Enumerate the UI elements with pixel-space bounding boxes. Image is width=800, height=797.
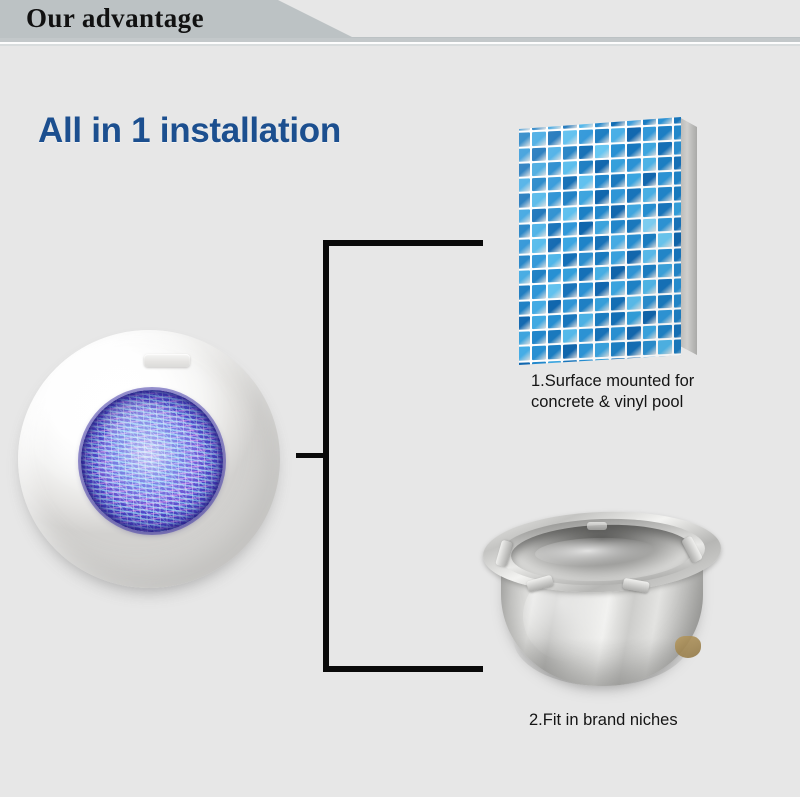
mosaic-tile [643,234,657,248]
mosaic-tile [548,162,562,176]
mosaic-tile [611,266,625,280]
mosaic-tile [674,141,681,155]
mosaic-tile [519,163,530,177]
mosaic-tile [579,145,593,159]
light-led-lens [81,390,223,532]
mosaic-tile [563,314,577,328]
mosaic-tile [579,359,593,365]
mosaic-tile [532,239,546,253]
mosaic-tile [532,193,546,207]
mosaic-tile [532,178,546,192]
lens-edge-shadow [81,390,223,532]
mosaic-tile [674,278,681,292]
mosaic-panel-side-edge [679,117,697,355]
mosaic-tile [595,221,609,235]
mosaic-tile [548,177,562,191]
mosaic-tile [579,191,593,205]
mosaic-tile [611,144,625,158]
mosaic-tile [519,178,530,192]
mosaic-tile [563,283,577,297]
mosaic-tile [548,223,562,237]
mosaic-tile [548,146,562,160]
mosaic-tile [674,125,681,139]
mosaic-tile [658,117,672,125]
mosaic-tile [627,235,641,249]
mosaic-tile [658,172,672,186]
mosaic-tile [532,361,546,365]
mosaic-tile [548,192,562,206]
mosaic-tile [595,251,609,265]
mosaic-tile [563,207,577,221]
mosaic-tile [579,221,593,235]
mosaic-tile [548,208,562,222]
mosaic-tile [579,130,593,144]
mosaic-tile [595,144,609,158]
mosaic-tile [579,267,593,281]
mosaic-tile [532,254,546,268]
mosaic-tile [627,143,641,157]
mosaic-tile [643,219,657,233]
mosaic-tile [658,218,672,232]
mosaic-tile [627,117,641,126]
mosaic-tile [611,281,625,295]
mosaic-tile [627,357,641,365]
mosaic-tile [563,130,577,144]
page-root: Our advantage All in 1 installation 1.Su… [0,0,800,797]
mosaic-tile [595,236,609,250]
mosaic-tile [658,157,672,171]
mosaic-tile [579,344,593,358]
mosaic-tile [611,342,625,356]
mosaic-tile [563,237,577,251]
niche-clip [587,522,607,530]
mosaic-tile [611,312,625,326]
light-top-tab [144,354,190,367]
mosaic-tile [658,279,672,293]
mosaic-tile [627,311,641,325]
mosaic-tile [532,224,546,238]
mosaic-tile [579,117,593,128]
mosaic-panel-face [519,117,681,365]
mosaic-tile [627,280,641,294]
mosaic-tile [611,296,625,310]
bracket-connector [296,240,488,674]
mosaic-tile [579,160,593,174]
mosaic-tile [611,117,625,127]
mosaic-tile [595,267,609,281]
mosaic-tile [643,188,657,202]
mosaic-tile [548,253,562,267]
mosaic-tile [658,141,672,155]
mosaic-tile [548,299,562,313]
mosaic-tile [563,360,577,365]
mosaic-tile [519,117,530,131]
mosaic-tile [532,208,546,222]
page-headline: All in 1 installation [38,111,341,151]
mosaic-tile [658,248,672,262]
mosaic-tile [643,264,657,278]
mosaic-tile [563,161,577,175]
mosaic-tile [658,264,672,278]
mosaic-tile [674,232,681,246]
steel-niche-image [483,508,721,690]
mosaic-tile [532,162,546,176]
mosaic-tile [548,284,562,298]
mosaic-tile [674,309,681,323]
mosaic-tile [643,341,657,355]
mosaic-tile [611,128,625,142]
mosaic-tile [532,300,546,314]
mosaic-tile [532,315,546,329]
mosaic-tile [595,175,609,189]
mosaic-tile [519,133,530,147]
mosaic-tile [579,176,593,190]
mosaic-tile [627,128,641,142]
mosaic-tile [611,220,625,234]
mosaic-tile [519,255,530,269]
mosaic-tile [643,127,657,141]
mosaic-tile [627,158,641,172]
mosaic-tile [548,117,562,130]
mosaic-tile [643,249,657,263]
bracket-arm-top [323,240,483,246]
mosaic-tile [579,206,593,220]
mosaic-tile [643,326,657,340]
mosaic-tile [595,205,609,219]
mosaic-tile [674,294,681,308]
mosaic-tile [627,296,641,310]
mosaic-tile [532,269,546,283]
mosaic-tile [674,263,681,277]
mosaic-tile [674,340,681,354]
mosaic-tile [627,250,641,264]
caption-item-2: 2.Fit in brand niches [529,710,739,731]
mosaic-tile [643,280,657,294]
mosaic-tile [627,326,641,340]
mosaic-tile [579,252,593,266]
mosaic-tile [519,209,530,223]
mosaic-tile [519,194,530,208]
mosaic-tile [658,126,672,140]
mosaic-tile [658,203,672,217]
mosaic-tile [611,327,625,341]
mosaic-tile [519,362,530,365]
mosaic-tile [595,328,609,342]
mosaic-tile [563,146,577,160]
mosaic-tile [548,330,562,344]
mosaic-tile [579,283,593,297]
bracket-vertical-line [323,240,329,672]
mosaic-tile [548,238,562,252]
mosaic-tile [658,310,672,324]
mosaic-tile [563,192,577,206]
mosaic-tile [611,189,625,203]
mosaic-tile [579,313,593,327]
mosaic-tile [519,331,530,345]
banner-divider-line-3 [0,44,800,46]
mosaic-tile [643,310,657,324]
mosaic-tile [674,156,681,170]
mosaic-tile [563,345,577,359]
mosaic-tile [643,157,657,171]
mosaic-tile [563,299,577,313]
mosaic-tile [611,235,625,249]
mosaic-tile [674,117,681,124]
mosaic-tile-grid [519,117,681,365]
mosaic-tile [519,148,530,162]
mosaic-tile [595,129,609,143]
niche-body-shadow [513,638,691,686]
mosaic-tile [627,219,641,233]
mosaic-tile [658,294,672,308]
mosaic-tile [579,298,593,312]
mosaic-tile [611,205,625,219]
mosaic-tile [595,343,609,357]
niche-conduit-lug [675,636,701,658]
mosaic-tile [674,248,681,262]
mosaic-tile [519,316,530,330]
mosaic-tile [519,240,530,254]
mosaic-tile [532,132,546,146]
mosaic-tile [611,159,625,173]
mosaic-tile [532,346,546,360]
mosaic-tile [595,358,609,365]
mosaic-tile [595,282,609,296]
mosaic-tile [548,131,562,145]
mosaic-tile [532,331,546,345]
mosaic-tile [595,297,609,311]
mosaic-tile [658,340,672,354]
mosaic-tile [627,342,641,356]
mosaic-tile-panel-image [519,117,695,369]
mosaic-tile [563,117,577,129]
mosaic-tile [548,345,562,359]
mosaic-tile [643,203,657,217]
mosaic-tile [595,190,609,204]
mosaic-tile [532,117,546,130]
mosaic-tile [519,347,530,361]
mosaic-tile [563,176,577,190]
mosaic-tile [658,187,672,201]
mosaic-tile [548,269,562,283]
mosaic-tile [519,224,530,238]
mosaic-tile [519,301,530,315]
mosaic-tile [674,187,681,201]
section-title: Our advantage [26,3,204,34]
pool-light-image [18,330,280,592]
mosaic-tile [643,295,657,309]
mosaic-tile [627,204,641,218]
mosaic-tile [532,285,546,299]
mosaic-tile [579,237,593,251]
mosaic-tile [643,173,657,187]
mosaic-tile [519,286,530,300]
mosaic-tile [674,171,681,185]
mosaic-tile [563,329,577,343]
mosaic-tile [627,265,641,279]
mosaic-tile [658,356,672,365]
mosaic-tile [563,253,577,267]
section-header-banner: Our advantage [0,0,800,48]
mosaic-tile [674,324,681,338]
mosaic-tile [548,361,562,365]
mosaic-tile [611,358,625,365]
mosaic-tile [643,142,657,156]
mosaic-tile [563,222,577,236]
mosaic-tile [627,173,641,187]
mosaic-tile [611,251,625,265]
mosaic-tile [579,329,593,343]
mosaic-tile [563,268,577,282]
mosaic-tile [643,117,657,125]
mosaic-tile [658,325,672,339]
mosaic-tile [643,356,657,365]
mosaic-tile [519,270,530,284]
mosaic-tile [595,312,609,326]
caption-item-1: 1.Surface mounted for concrete & vinyl p… [531,371,711,413]
mosaic-tile [548,315,562,329]
mosaic-tile [611,174,625,188]
bracket-arm-bottom [323,666,483,672]
mosaic-tile [674,355,681,365]
mosaic-tile [595,117,609,128]
mosaic-tile [658,233,672,247]
mosaic-tile [674,217,681,231]
mosaic-tile [627,189,641,203]
mosaic-tile [532,147,546,161]
mosaic-tile [595,160,609,174]
mosaic-tile [674,202,681,216]
